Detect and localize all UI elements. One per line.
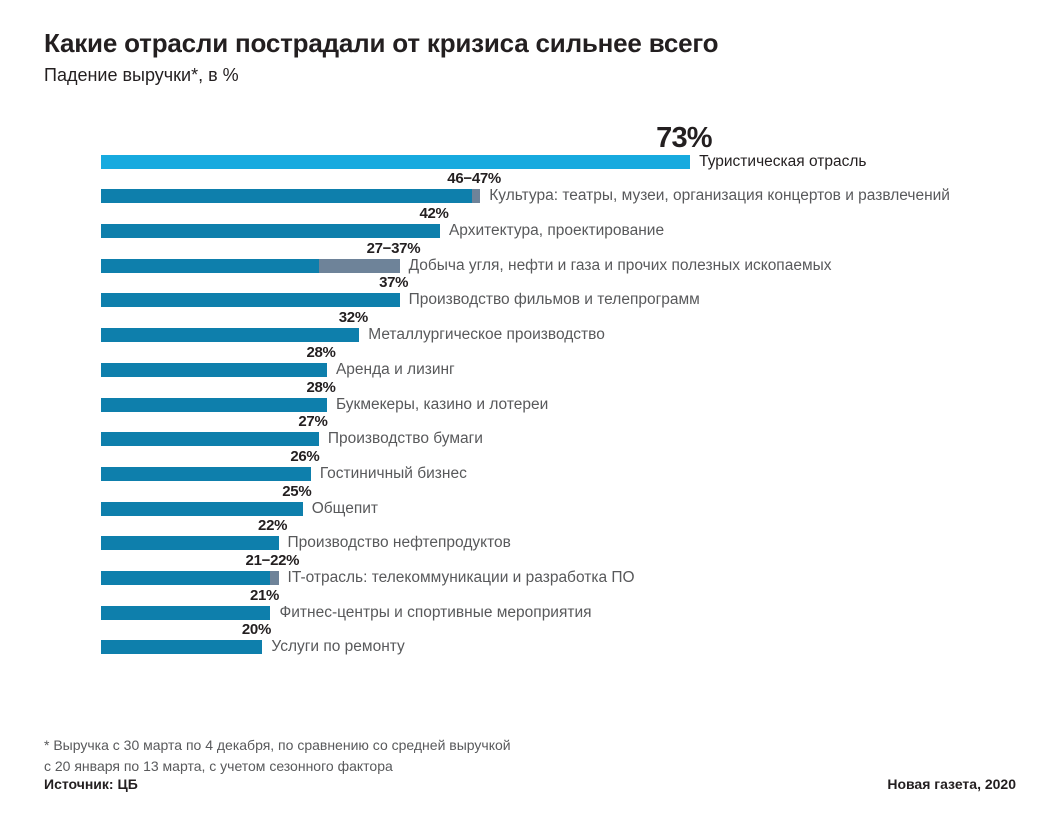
bar-row[interactable]: 22%Производство нефтепродуктов xyxy=(101,522,1001,557)
bar-segment-value xyxy=(101,363,327,377)
bar[interactable] xyxy=(101,293,400,307)
bar-value-label: 26% xyxy=(290,448,319,465)
bar-row[interactable]: 28%Аренда и лизинг xyxy=(101,348,1001,383)
bar-value-label: 42% xyxy=(419,205,448,222)
bar-row[interactable]: 21−22%IT-отрасль: телекоммуникации и раз… xyxy=(101,556,1001,591)
bar-category-label: Туристическая отрасль xyxy=(699,151,866,173)
footnote-line-2: с 20 января по 13 марта, с учетом сезонн… xyxy=(44,756,511,777)
bar-category-label: Добыча угля, нефти и газа и прочих полез… xyxy=(409,255,832,277)
chart-header: Какие отрасли пострадали от кризиса силь… xyxy=(44,28,718,86)
bar[interactable] xyxy=(101,155,690,169)
bar-segment-value xyxy=(101,606,270,620)
publisher-credit: Новая газета, 2020 xyxy=(887,776,1016,792)
bar-category-label: Производство бумаги xyxy=(328,428,483,450)
bar-row[interactable]: 28%Букмекеры, казино и лотереи xyxy=(101,383,1001,418)
bar-row[interactable]: 73%Туристическая отрасль xyxy=(101,140,1001,175)
bar-segment-value xyxy=(101,467,311,481)
infographic-page: { "header": { "title": "Какие отрасли по… xyxy=(0,0,1060,828)
bar-segment-value xyxy=(101,432,319,446)
bar[interactable] xyxy=(101,398,327,412)
bar[interactable] xyxy=(101,224,440,238)
bar-value-label: 20% xyxy=(242,621,271,638)
bar-segment-value xyxy=(101,259,319,273)
bar-segment-value xyxy=(101,502,303,516)
bar-row[interactable]: 37%Производство фильмов и телепрограмм xyxy=(101,279,1001,314)
bar-category-label: Культура: театры, музеи, организация кон… xyxy=(489,185,950,207)
bar-segment-value xyxy=(101,189,472,203)
bar-segment-range xyxy=(472,189,480,203)
bar-chart-plot: 73%Туристическая отрасль46−47%Культура: … xyxy=(101,140,1001,720)
bar[interactable] xyxy=(101,571,279,585)
bar-value-label: 37% xyxy=(379,274,408,291)
bar[interactable] xyxy=(101,536,279,550)
bar-value-label: 22% xyxy=(258,517,287,534)
page-subtitle: Падение выручки*, в % xyxy=(44,65,718,86)
bar-value-label: 28% xyxy=(306,344,335,361)
bar[interactable] xyxy=(101,189,480,203)
bar-segment-value xyxy=(101,536,279,550)
bar-category-label: Производство нефтепродуктов xyxy=(288,532,511,554)
bar-row[interactable]: 46−47%Культура: театры, музеи, организац… xyxy=(101,175,1001,210)
bar[interactable] xyxy=(101,259,400,273)
bar-segment-value xyxy=(101,224,440,238)
bar[interactable] xyxy=(101,640,262,654)
source-credit: Источник: ЦБ xyxy=(44,776,138,792)
bar-value-label: 27% xyxy=(298,413,327,430)
bar-category-label: Архитектура, проектирование xyxy=(449,220,664,242)
bar[interactable] xyxy=(101,502,303,516)
footnote-line-1: * Выручка с 30 марта по 4 декабря, по ср… xyxy=(44,735,511,756)
bar-segment-range xyxy=(319,259,400,273)
bar-category-label: IT-отрасль: телекоммуникации и разработк… xyxy=(288,567,635,589)
bar-row[interactable]: 26%Гостиничный бизнес xyxy=(101,452,1001,487)
bar[interactable] xyxy=(101,467,311,481)
bar-category-label: Производство фильмов и телепрограмм xyxy=(409,289,700,311)
bar-category-label: Услуги по ремонту xyxy=(271,636,404,658)
bar-segment-value xyxy=(101,398,327,412)
bar-segment-value xyxy=(101,328,359,342)
bar-segment-value xyxy=(101,155,690,169)
bar-value-label: 28% xyxy=(306,379,335,396)
footnote: * Выручка с 30 марта по 4 декабря, по ср… xyxy=(44,735,511,777)
bar[interactable] xyxy=(101,328,359,342)
bar-row[interactable]: 42%Архитектура, проектирование xyxy=(101,209,1001,244)
bar[interactable] xyxy=(101,432,319,446)
bar-category-label: Аренда и лизинг xyxy=(336,359,455,381)
bar-segment-value xyxy=(101,640,262,654)
bar-row[interactable]: 21%Фитнес-центры и спортивные мероприяти… xyxy=(101,591,1001,626)
bar[interactable] xyxy=(101,363,327,377)
bar-segment-value xyxy=(101,293,400,307)
bar-value-label: 21% xyxy=(250,587,279,604)
bar-row[interactable]: 27−37%Добыча угля, нефти и газа и прочих… xyxy=(101,244,1001,279)
bar-value-label: 25% xyxy=(282,483,311,500)
bar-category-label: Металлургическое производство xyxy=(368,324,605,346)
page-title: Какие отрасли пострадали от кризиса силь… xyxy=(44,28,718,59)
bar-row[interactable]: 20%Услуги по ремонту xyxy=(101,626,1001,661)
bar[interactable] xyxy=(101,606,270,620)
bar-segment-value xyxy=(101,571,270,585)
bar-segment-range xyxy=(270,571,278,585)
bar-row[interactable]: 25%Общепит xyxy=(101,487,1001,522)
bar-value-label: 32% xyxy=(339,309,368,326)
bar-category-label: Фитнес-центры и спортивные мероприятия xyxy=(279,602,591,624)
bar-category-label: Гостиничный бизнес xyxy=(320,463,467,485)
bar-category-label: Общепит xyxy=(312,498,378,520)
bar-row[interactable]: 32%Металлургическое производство xyxy=(101,314,1001,349)
bar-row[interactable]: 27%Производство бумаги xyxy=(101,418,1001,453)
bar-category-label: Букмекеры, казино и лотереи xyxy=(336,394,548,416)
